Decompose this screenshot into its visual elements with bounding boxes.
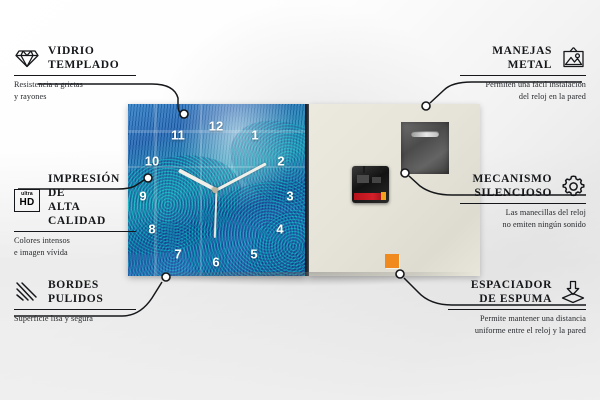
- clock-mechanism-box: [352, 166, 389, 203]
- diamond-icon: [14, 45, 40, 71]
- feature-header: MANEJAS METAL: [460, 44, 586, 72]
- feature-title: MANEJAS METAL: [492, 44, 552, 72]
- feature-header: MECANISMO SILENCIOSO: [460, 172, 586, 200]
- ultra-hd-icon: ultra HD: [14, 187, 40, 213]
- picture-frame-hanger-icon: [560, 45, 586, 71]
- clock-number-7: 7: [174, 248, 181, 261]
- feature-mecanismo-silencioso: MECANISMO SILENCIOSO Las manecillas del …: [460, 172, 586, 231]
- feature-divider: [448, 309, 586, 310]
- feature-divider: [460, 75, 586, 76]
- background-highlight: [150, 0, 470, 120]
- clock-number-10: 10: [145, 155, 159, 168]
- clock-number-6: 6: [212, 256, 219, 269]
- infographic-canvas: 12 1 2 3 4 5 6 7 8 9 10 11: [0, 0, 600, 400]
- clock-number-1: 1: [251, 129, 258, 142]
- feature-impresion-alta-calidad: ultra HD IMPRESIÓN DE ALTA CALIDAD Color…: [14, 172, 140, 259]
- clock-number-4: 4: [276, 223, 283, 236]
- arrow-down-pad-icon: [560, 279, 586, 305]
- metal-hanger-plate: [401, 122, 449, 174]
- diagonal-lines-icon: [14, 279, 40, 305]
- clock-back-panel: [309, 104, 480, 276]
- feature-title: ESPACIADOR DE ESPUMA: [471, 278, 552, 306]
- feature-description: Permiten una fácil instalación del reloj…: [460, 79, 586, 103]
- clock-number-5: 5: [250, 248, 257, 261]
- clock-number-3: 3: [286, 190, 293, 203]
- clock-center-cap: [212, 187, 218, 193]
- feature-vidrio-templado: VIDRIO TEMPLADO Resistencia a grietas y …: [14, 44, 140, 103]
- feature-description: Permite mantener una distancia uniforme …: [448, 313, 586, 337]
- feature-title: IMPRESIÓN DE ALTA CALIDAD: [48, 172, 140, 228]
- ultra-hd-large-text: HD: [19, 198, 34, 208]
- feature-title: VIDRIO TEMPLADO: [48, 44, 119, 72]
- mechanism-loop: [363, 166, 382, 173]
- clock-number-8: 8: [148, 223, 155, 236]
- feature-description: Resistencia a grietas y rayones: [14, 79, 140, 103]
- feature-divider: [14, 231, 136, 232]
- feature-description: Colores intensos e imagen vívida: [14, 235, 140, 259]
- clock-number-12: 12: [209, 120, 223, 133]
- feature-header: BORDES PULIDOS: [14, 278, 140, 306]
- feature-header: VIDRIO TEMPLADO: [14, 44, 140, 72]
- hanger-slot: [411, 131, 439, 137]
- clock-number-2: 2: [277, 155, 284, 168]
- feature-espaciador-espuma: ESPACIADOR DE ESPUMA Permite mantener un…: [448, 278, 586, 337]
- foam-spacer: [385, 254, 399, 268]
- feature-header: ultra HD IMPRESIÓN DE ALTA CALIDAD: [14, 172, 140, 228]
- feature-divider: [460, 203, 586, 204]
- clock-number-11: 11: [171, 129, 185, 142]
- product-image: 12 1 2 3 4 5 6 7 8 9 10 11: [128, 104, 480, 276]
- clock-number-9: 9: [139, 190, 146, 203]
- clock-front-face: 12 1 2 3 4 5 6 7 8 9 10 11: [128, 104, 305, 276]
- feature-description: Superficie lisa y segura: [14, 313, 140, 325]
- gear-icon: [560, 173, 586, 199]
- feature-divider: [14, 75, 136, 76]
- feature-manejas-metal: MANEJAS METAL Permiten una fácil instala…: [460, 44, 586, 103]
- feature-header: ESPACIADOR DE ESPUMA: [448, 278, 586, 306]
- mechanism-amber-detail: [381, 192, 386, 200]
- feature-bordes-pulidos: BORDES PULIDOS Superficie lisa y segura: [14, 278, 140, 325]
- feature-title: MECANISMO SILENCIOSO: [472, 172, 552, 200]
- feature-divider: [14, 309, 136, 310]
- mechanism-detail: [372, 177, 381, 183]
- feature-description: Las manecillas del reloj no emiten ningú…: [460, 207, 586, 231]
- mechanism-detail: [357, 175, 369, 183]
- feature-title: BORDES PULIDOS: [48, 278, 103, 306]
